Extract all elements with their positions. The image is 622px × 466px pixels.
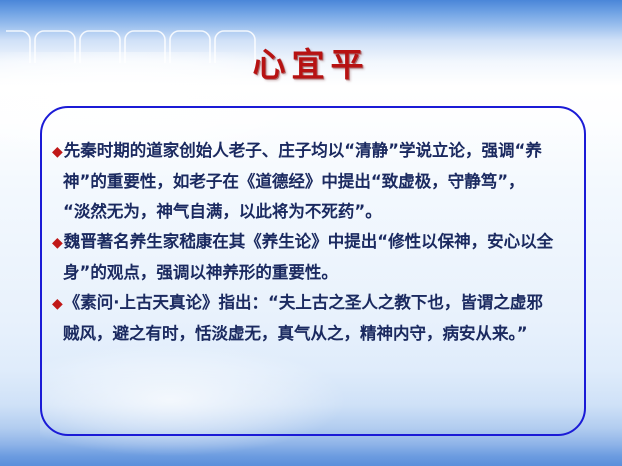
bullet-text: 先秦时期的道家创始人老子、庄子均以“清静”学说立论，强调“养 [64,141,542,160]
bullet-line: ◆先秦时期的道家创始人老子、庄子均以“清静”学说立论，强调“养 [52,136,576,167]
diamond-bullet-icon: ◆ [52,235,63,251]
list-item: ◆《素问·上古天真论》指出：“夫上古之圣人之教下也，皆谓之虚邪 贼风，避之有时，… [52,288,576,349]
bullet-text: 魏晋著名养生家嵇康在其《养生论》中提出“修性以保神，安心以全 [64,232,553,251]
bullet-text: 《素问·上古天真论》指出：“夫上古之圣人之教下也，皆谓之虚邪 [64,293,543,312]
bullet-line: 身”的观点，强调以神养形的重要性。 [52,258,576,288]
page-title: 心宜平 [0,48,622,81]
bullet-list: ◆先秦时期的道家创始人老子、庄子均以“清静”学说立论，强调“养 神”的重要性，如… [52,136,576,349]
bullet-line: 贼风，避之有时，恬淡虚无，真气从之，精神内守，病安从来。” [52,319,576,349]
list-item: ◆魏晋著名养生家嵇康在其《养生论》中提出“修性以保神，安心以全 身”的观点，强调… [52,227,576,288]
list-item: ◆先秦时期的道家创始人老子、庄子均以“清静”学说立论，强调“养 神”的重要性，如… [52,136,576,227]
diamond-bullet-icon: ◆ [52,144,63,160]
slide-canvas: 心宜平 ◆先秦时期的道家创始人老子、庄子均以“清静”学说立论，强调“养 神”的重… [0,0,622,466]
bullet-line: ◆魏晋著名养生家嵇康在其《养生论》中提出“修性以保神，安心以全 [52,227,576,258]
bullet-line: ◆《素问·上古天真论》指出：“夫上古之圣人之教下也，皆谓之虚邪 [52,288,576,319]
bullet-line: 神”的重要性，如老子在《道德经》中提出“致虚极，守静笃”， [52,167,576,197]
bullet-line: “淡然无为，神气自满，以此将为不死药”。 [52,197,576,227]
diamond-bullet-icon: ◆ [52,296,63,312]
